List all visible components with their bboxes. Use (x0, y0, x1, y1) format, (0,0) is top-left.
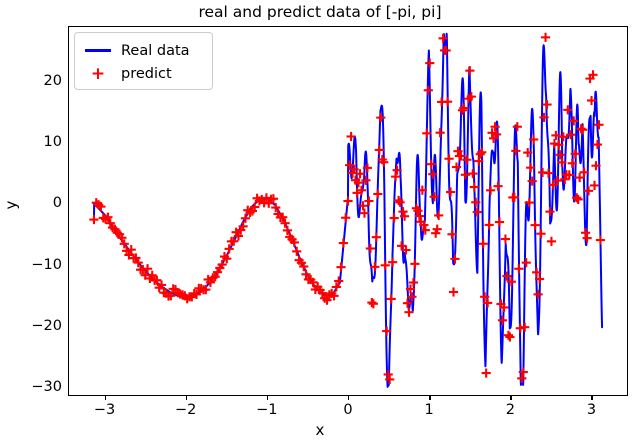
y-tick-label: −20 (10, 318, 62, 334)
legend: Real data + predict (74, 32, 213, 90)
legend-item-predict: + predict (75, 62, 212, 85)
x-tick-label: 0 (318, 402, 378, 418)
page-title: real and predict data of [-pi, pi] (0, 3, 640, 21)
y-tick-label: 0 (10, 195, 62, 211)
legend-label-real-data: Real data (121, 43, 190, 59)
legend-item-real-data: Real data (75, 39, 212, 62)
y-tick-label: −30 (10, 379, 62, 395)
x-tick-mark (267, 396, 268, 400)
x-tick-label: 1 (399, 402, 459, 418)
x-tick-label: 2 (480, 402, 540, 418)
line-swatch-icon (75, 49, 121, 52)
y-tick-label: −10 (10, 257, 62, 273)
x-tick-mark (105, 396, 106, 400)
x-tick-mark (510, 396, 511, 400)
plus-marker-icon: + (75, 67, 121, 81)
x-tick-mark (348, 396, 349, 400)
x-tick-label: −1 (237, 402, 297, 418)
x-tick-label: −2 (156, 402, 216, 418)
y-tick-label: 20 (10, 73, 62, 89)
matplotlib-figure: real and predict data of [-pi, pi] y x 2… (0, 0, 640, 444)
x-axis-label: x (0, 421, 640, 439)
legend-label-predict: predict (121, 66, 172, 82)
x-tick-label: 3 (561, 402, 621, 418)
y-tick-label: 10 (10, 134, 62, 150)
x-tick-mark (186, 396, 187, 400)
plus-glyph: + (91, 67, 105, 81)
x-tick-mark (591, 396, 592, 400)
x-tick-label: −3 (75, 402, 135, 418)
y-axis-tick-labels: 20100−10−20−30 (6, 0, 62, 444)
x-tick-mark (429, 396, 430, 400)
